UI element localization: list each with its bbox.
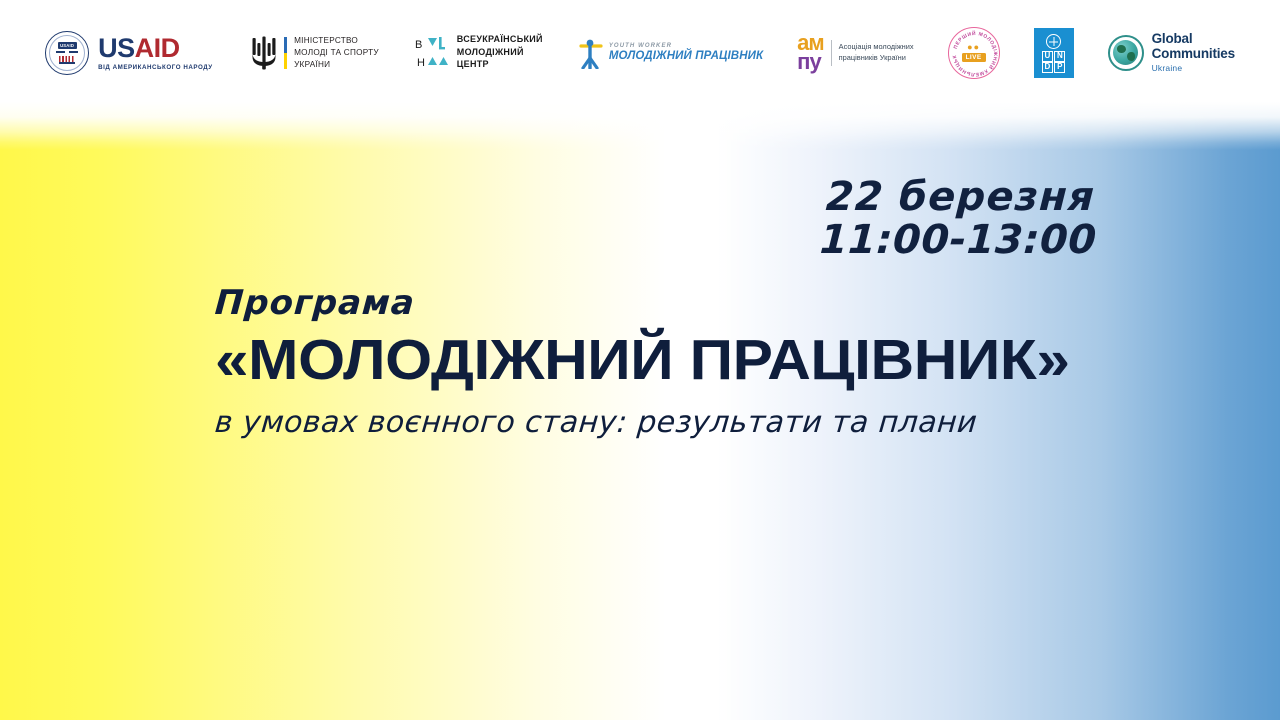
vmc-line-1: ВСЕУКРАЇНСЬКИЙ	[457, 35, 543, 45]
event-time: 11:00-13:00	[819, 219, 1098, 262]
usaid-wordmark: USAID	[98, 35, 213, 62]
ampu-line-2: працівників України	[839, 54, 914, 63]
logo-all-ukrainian-youth-center: В Н ВСЕУКРАЇНСЬКИЙ МОЛОДІЖНИЙ ЦЕНТР	[415, 35, 543, 70]
undp-letter-d: D	[1042, 62, 1053, 73]
headline-block: Програма «МОЛОДІЖНИЙ ПРАЦІВНИК» в умовах…	[215, 283, 1021, 440]
presentation-slide: USAID USAID ВІД АМЕРИКАНСЬКОГО НАРОДУ	[0, 0, 1280, 720]
usaid-seal-label: USAID	[58, 42, 77, 49]
youth-worker-english-label: YOUTH WORKER	[609, 43, 763, 49]
un-emblem-icon	[1046, 34, 1061, 49]
page-title: «МОЛОДІЖНИЙ ПРАЦІВНИК»	[215, 331, 1070, 389]
vmc-line-2: МОЛОДІЖНИЙ	[457, 48, 543, 58]
undp-letter-u: U	[1042, 51, 1053, 62]
youth-worker-person-icon	[579, 37, 603, 69]
usaid-seal-icon: USAID	[45, 31, 89, 75]
ukraine-flag-bar-icon	[284, 37, 287, 69]
headline-subtitle: в умовах воєнного стану: результати та п…	[213, 405, 1022, 440]
ampu-line-1: Асоціація молодіжних	[839, 43, 914, 52]
logo-live-badge: ПЕРШИЙ МОЛОДІЖНИЙ ХМЕЛЬНИЦЬКА ●● LIVE	[948, 27, 1000, 79]
youth-worker-ukrainian-label: МОЛОДІЖНИЙ ПРАЦІВНИК	[609, 50, 763, 62]
usaid-shield-icon	[59, 56, 75, 64]
live-badge-ring-text: ПЕРШИЙ МОЛОДІЖНИЙ ХМЕЛЬНИЦЬКА	[949, 28, 999, 78]
global-communities-line-1: Global	[1152, 32, 1235, 46]
live-ring-textpath: ПЕРШИЙ МОЛОДІЖНИЙ ХМЕЛЬНИЦЬКА	[949, 28, 998, 77]
global-communities-line-2: Communities	[1152, 47, 1235, 61]
undp-letter-p: P	[1054, 62, 1065, 73]
svg-text:В: В	[415, 39, 422, 51]
usaid-tagline: ВІД АМЕРИКАНСЬКОГО НАРОДУ	[98, 64, 213, 71]
vmc-line-3: ЦЕНТР	[457, 60, 543, 70]
globe-icon	[1108, 35, 1144, 71]
usaid-wing-icon	[56, 50, 78, 55]
partner-logo-bar: USAID USAID ВІД АМЕРИКАНСЬКОГО НАРОДУ	[0, 0, 1280, 105]
event-date-time: 22 березня 11:00-13:00	[819, 176, 1100, 262]
event-date: 22 березня	[821, 176, 1100, 219]
ampu-monogram-icon: ам пу	[797, 34, 824, 70]
logo-global-communities: Global Communities Ukraine	[1108, 32, 1235, 73]
ampu-mark-row-2: пу	[797, 53, 824, 71]
global-communities-country: Ukraine	[1152, 63, 1235, 73]
logo-ministry-of-youth-and-sports: МІНІСТЕРСТВО МОЛОДІ ТА СПОРТУ УКРАЇНИ	[251, 36, 379, 70]
svg-text:Н: Н	[417, 57, 425, 69]
logo-undp: U N D P	[1034, 28, 1074, 78]
svg-text:ПЕРШИЙ МОЛОДІЖНИЙ ХМЕЛЬНИЦЬКА: ПЕРШИЙ МОЛОДІЖНИЙ ХМЕЛЬНИЦЬКА	[949, 28, 998, 77]
logo-ampu: ам пу Асоціація молодіжних працівників У…	[797, 34, 913, 70]
usaid-word-us: US	[98, 33, 135, 63]
trident-icon	[251, 36, 277, 70]
ministry-line-3: УКРАЇНИ	[294, 60, 379, 69]
vmc-mark-icon: В Н	[415, 35, 449, 69]
logo-usaid: USAID USAID ВІД АМЕРИКАНСЬКОГО НАРОДУ	[45, 31, 213, 75]
ministry-line-1: МІНІСТЕРСТВО	[294, 36, 379, 45]
headline-kicker: Програма	[214, 283, 1023, 323]
ampu-divider	[831, 40, 832, 66]
ministry-line-2: МОЛОДІ ТА СПОРТУ	[294, 48, 379, 57]
logo-youth-worker: YOUTH WORKER МОЛОДІЖНИЙ ПРАЦІВНИК	[579, 37, 763, 69]
usaid-word-aid: AID	[135, 33, 180, 63]
undp-letter-n: N	[1054, 51, 1065, 62]
